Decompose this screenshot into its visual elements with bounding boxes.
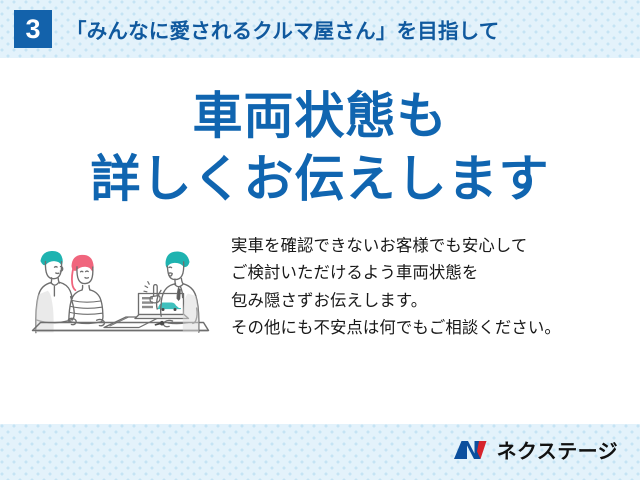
nextage-n-logo-icon: [453, 438, 489, 467]
body-copy-line-1: 実車を確認できないお客様でも安心して: [231, 233, 624, 260]
brand-logo: ネクステージ: [453, 438, 618, 467]
headline-line-2: 詳しくお伝えします: [0, 151, 640, 208]
banner-header: 3 「みんなに愛されるクルマ屋さん」を目指して: [0, 0, 640, 58]
consultation-illustration: [20, 230, 225, 345]
body-copy: 実車を確認できないお客様でも安心して ご検討いただけるよう車両状態を 包み隠さず…: [225, 233, 624, 342]
body-copy-line-4: その他にも不安点は何でもご相談ください。: [231, 315, 624, 342]
promo-banner: 3 「みんなに愛されるクルマ屋さん」を目指して 車両状態も 詳しくお伝えします: [0, 0, 640, 480]
banner-main: 車両状態も 詳しくお伝えします: [0, 58, 640, 424]
banner-footer: ネクステージ: [0, 424, 640, 480]
brand-logo-text: ネクステージ: [497, 442, 618, 462]
header-title: 「みんなに愛されるクルマ屋さん」を目指して: [66, 14, 499, 44]
headline-line-1: 車両状態も: [0, 88, 640, 145]
section-number-badge: 3: [14, 10, 52, 48]
body-copy-line-3: 包み隠さずお伝えします。: [231, 288, 624, 315]
content-row: 実車を確認できないお客様でも安心して ご検討いただけるよう車両状態を 包み隠さず…: [0, 230, 640, 345]
body-copy-line-2: ご検討いただけるよう車両状態を: [231, 260, 624, 287]
headline: 車両状態も 詳しくお伝えします: [0, 88, 640, 208]
